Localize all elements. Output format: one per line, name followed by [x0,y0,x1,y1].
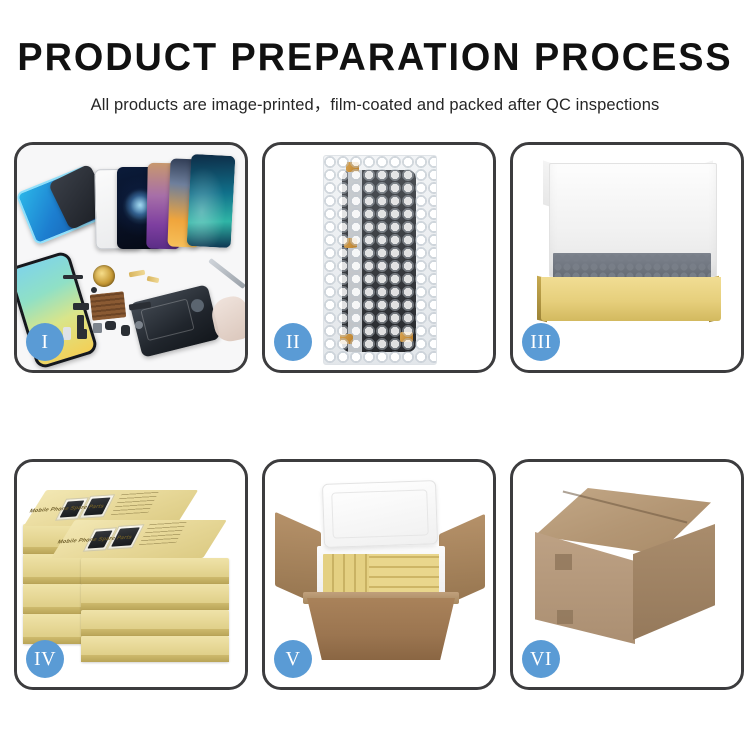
step-badge-3: III [522,323,560,361]
gold-coil-part [93,265,115,287]
process-step-panel-3[interactable]: III [510,142,744,373]
spare-part [73,303,89,310]
carton-tape-patch [557,610,573,624]
spare-part [77,329,87,339]
page-header: PRODUCT PREPARATION PROCESS All products… [0,0,750,115]
kraft-box-stacked [81,584,229,610]
step-badge-4: IV [26,640,64,678]
spare-part [135,321,143,329]
phone-display-teal [187,154,236,248]
wrapped-phone-part [342,170,416,352]
tape-piece [346,162,359,172]
inner-kraft-boxes [369,554,439,596]
step-badge-5: V [274,640,312,678]
spare-part [63,275,83,279]
carton-body [307,598,455,660]
circuit-board-part [90,291,127,320]
process-step-panel-2[interactable]: II [262,142,496,373]
kraft-box-stacked [81,558,229,584]
page-subtitle: All products are image-printed，film-coat… [0,91,750,115]
spare-part [121,325,130,336]
process-step-panel-1[interactable]: I [14,142,248,373]
spare-part [93,323,102,333]
kraft-box-stacked [81,636,229,662]
process-step-grid: I II III [14,142,736,690]
step-badge-1: I [26,323,64,361]
tape-piece [400,332,413,342]
process-step-panel-5[interactable]: V [262,459,496,690]
spare-part [63,327,71,340]
carton-tape-patch [555,554,572,570]
process-step-panel-6[interactable]: VI [510,459,744,690]
tape-piece [340,334,353,344]
process-step-panel-4[interactable]: Mobile Phone Spare Parts Mobile Phone Sp… [14,459,248,690]
kraft-box-body [541,277,721,321]
spare-part [105,321,116,330]
tape-piece [344,238,357,248]
foam-lid [322,480,438,548]
page-title: PRODUCT PREPARATION PROCESS [11,38,739,77]
step-badge-2: II [274,323,312,361]
bubble-wrap-pack [323,155,437,365]
kraft-box-stacked [81,610,229,636]
spare-part [91,287,97,293]
step-badge-6: VI [522,640,560,678]
